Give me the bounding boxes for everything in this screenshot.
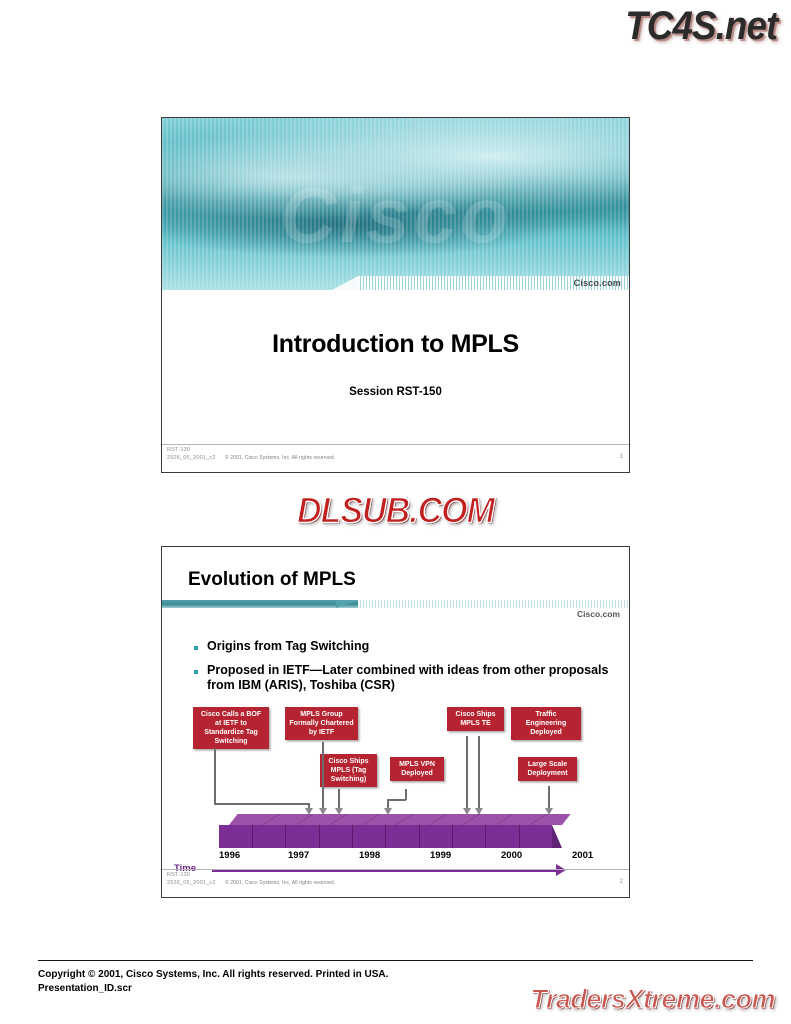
bar-front-face	[219, 825, 552, 848]
slide1-footer: RST-130 2926_05_2001_c2 © 2001, Cisco Sy…	[162, 444, 629, 472]
connector-line	[214, 748, 216, 804]
year-label: 1997	[288, 850, 309, 861]
slide1-footer-doc-id: RST-130 2926_05_2001_c2	[167, 447, 216, 462]
year-label: 1998	[359, 850, 380, 861]
slide2-header-rule	[162, 600, 629, 608]
timeline-callout-box: Traffic Engineering Deployed	[511, 707, 581, 740]
bar-segment-divider	[395, 814, 413, 825]
slide1-footer-copyright: © 2001, Cisco Systems, Inc. All rights r…	[225, 455, 335, 461]
bottom-divider	[38, 960, 753, 961]
year-label: 2001	[572, 850, 593, 861]
bar-segment-divider	[352, 825, 353, 848]
slide2-doc-id: RST-130	[167, 872, 216, 880]
timeline-3d-bar	[219, 814, 562, 848]
cisco-com-brand: Cisco.com	[574, 278, 621, 288]
bar-segment-divider	[462, 814, 480, 825]
slide2-footer-doc-id: RST-130 2926_05_2001_c2	[167, 872, 216, 887]
timeline-callout-box: MPLS Group Formally Chartered by IETF	[285, 707, 358, 740]
slide2-header: Evolution of MPLS Cisco.com	[162, 547, 629, 615]
tradersxtreme-watermark: TradersXtreme.com	[530, 984, 775, 1015]
slide2-page-number: 2	[620, 879, 623, 885]
slide1-doc-id: RST-130	[167, 447, 216, 455]
slide-evolution-of-mpls: Evolution of MPLS Cisco.com Origins from…	[161, 546, 630, 898]
bar-segment-divider	[252, 825, 253, 848]
bar-segment-divider	[495, 814, 513, 825]
bullet-text: Proposed in IETF—Later combined with ide…	[207, 663, 609, 693]
year-label: 1999	[430, 850, 451, 861]
slide1-doc-code: 2926_05_2001_c2	[167, 455, 216, 463]
connector-line	[322, 742, 324, 811]
slide1-session-label: Session RST-150	[162, 386, 629, 398]
timeline-callout-box: MPLS VPN Deployed	[390, 757, 444, 781]
slide2-footer-copyright: © 2001, Cisco Systems, Inc. All rights r…	[225, 880, 335, 886]
cisco-banner-watermark: Cisco	[280, 170, 512, 261]
connector-line	[387, 799, 406, 801]
bar-segment-divider	[385, 825, 386, 848]
bar-segment-divider	[529, 814, 547, 825]
bullet-item: Proposed in IETF—Later combined with ide…	[194, 663, 609, 693]
dlsub-watermark: DLSUB.COM	[0, 491, 791, 532]
slide2-bullet-list: Origins from Tag Switching Proposed in I…	[194, 639, 609, 702]
copyright-line-2: Presentation_ID.scr	[38, 982, 388, 996]
bar-segment-divider	[419, 825, 420, 848]
slide2-doc-code: 2926_05_2001_c2	[167, 880, 216, 888]
bar-segment-divider	[452, 825, 453, 848]
bar-segment-divider	[485, 825, 486, 848]
bullet-square-icon	[194, 670, 198, 674]
connector-line	[214, 803, 309, 805]
copyright-line-1: Copyright © 2001, Cisco Systems, Inc. Al…	[38, 968, 388, 982]
bar-segment-divider	[285, 825, 286, 848]
bar-segment-divider	[262, 814, 280, 825]
bar-segment-divider	[295, 814, 313, 825]
slide1-banner: Cisco Cisco.com	[162, 118, 629, 290]
rule-solid-segment	[162, 600, 358, 608]
connector-line	[466, 736, 468, 811]
year-label: 2000	[501, 850, 522, 861]
slide-introduction-to-mpls: Cisco Cisco.com Introduction to MPLS Ses…	[161, 117, 630, 473]
bar-segment-divider	[329, 814, 347, 825]
timeline-year-labels: 1996 1997 1998 1999 2000 2001	[219, 850, 569, 863]
slide1-page-number: 1	[620, 454, 623, 460]
tc4s-watermark: TC4S.net	[625, 4, 777, 49]
slide1-body: Introduction to MPLS Session RST-150	[162, 290, 629, 445]
timeline-callout-box: Cisco Calls a BOF at IETF to Standardize…	[193, 707, 269, 749]
bullet-square-icon	[194, 646, 198, 650]
bar-side-face	[552, 825, 562, 848]
rule-hatch-segment	[358, 600, 629, 608]
timeline-callout-box: Cisco Ships MPLS (Tag Switching)	[320, 754, 377, 787]
connector-line	[478, 736, 480, 811]
timeline-callout-box: Large Scale Deployment	[518, 757, 577, 781]
timeline-callout-box: Cisco Ships MPLS TE	[447, 707, 504, 731]
mpls-evolution-timeline: Cisco Calls a BOF at IETF to Standardize…	[162, 707, 629, 867]
cisco-com-brand: Cisco.com	[577, 609, 620, 619]
slide2-title: Evolution of MPLS	[188, 569, 356, 591]
year-label: 1996	[219, 850, 240, 861]
bar-segment-divider	[519, 825, 520, 848]
page-copyright: Copyright © 2001, Cisco Systems, Inc. Al…	[38, 968, 388, 996]
bar-segment-divider	[319, 825, 320, 848]
slide1-title: Introduction to MPLS	[162, 330, 629, 359]
bar-segment-divider	[429, 814, 447, 825]
bar-top-face	[229, 814, 571, 825]
bullet-text: Origins from Tag Switching	[207, 639, 369, 654]
bullet-item: Origins from Tag Switching	[194, 639, 609, 654]
bar-segment-divider	[362, 814, 380, 825]
slide2-footer: RST-130 2926_05_2001_c2 © 2001, Cisco Sy…	[162, 869, 629, 897]
